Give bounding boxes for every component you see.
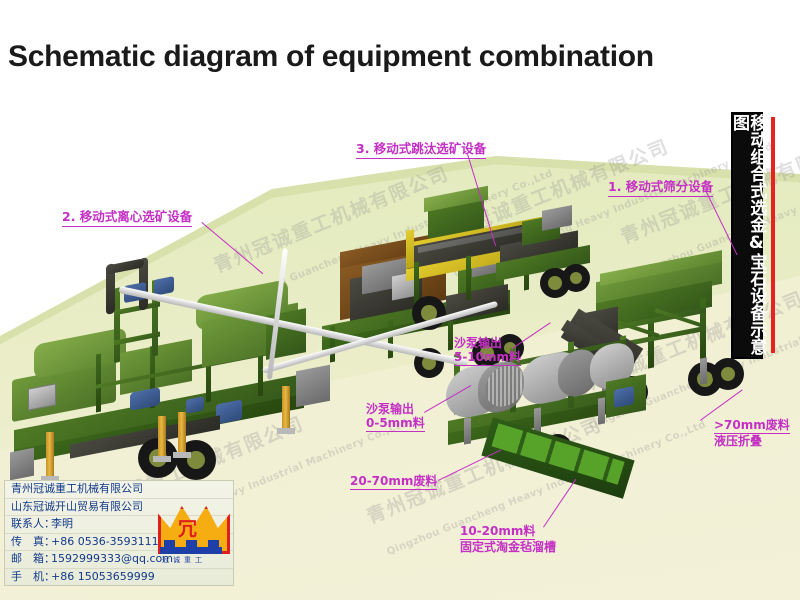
flow-label-sand-pump-0-5: 沙泵输出 0-5mm料 [366, 402, 425, 432]
fax-value: +86 0536-3593111 [51, 535, 159, 548]
schematic-canvas: 青州冠诚重工机械有限公司 Qingzhou Guancheng Heavy In… [0, 0, 800, 600]
mobile-label: 手 机： [11, 569, 51, 586]
company-name-1: 青州冠诚重工机械有限公司 [5, 481, 233, 499]
email-label: 邮 箱： [11, 551, 51, 568]
logo-letter: 冗 [178, 514, 197, 541]
vertical-accent-bar [771, 117, 775, 353]
contact-person-value: 李明 [51, 517, 73, 530]
logo-base [160, 547, 222, 554]
company-logo: 冗 冠诚重工 [156, 506, 228, 568]
email-value: 1592999333@qq.com [51, 552, 173, 565]
flow-label-20-70-waste: 20-70mm废料 [350, 474, 437, 490]
wheel [562, 264, 590, 292]
flow-label-10-20-sluice: 10-20mm料 固定式淘金毡溜槽 [460, 524, 556, 554]
mobile-row: 手 机：+86 15053659999 [5, 569, 233, 586]
logo-subtext: 冠诚重工 [162, 555, 206, 565]
callout-label-2: 2. 移动式离心选矿设备 [62, 210, 192, 227]
flow-label-over-70-waste: >70mm废料 液压折叠 [714, 418, 790, 448]
callout-label-3: 3. 移动式跳汰选矿设备 [356, 142, 486, 159]
vertical-banner: 移动组合式选金&宝石设备示意图 [731, 112, 763, 359]
vertical-banner-text: 移动组合式选金&宝石设备示意图 [730, 114, 765, 357]
wheel [712, 358, 744, 390]
contact-person-label: 联系人： [11, 516, 51, 533]
page-title: Schematic diagram of equipment combinati… [8, 40, 654, 74]
mobile-value: +86 15053659999 [51, 570, 155, 583]
fax-label: 传 真： [11, 534, 51, 551]
flow-label-sand-pump-5-10: 沙泵输出 5-10mm料 [454, 336, 521, 366]
callout-label-1: 1. 移动式筛分设备 [608, 180, 713, 197]
